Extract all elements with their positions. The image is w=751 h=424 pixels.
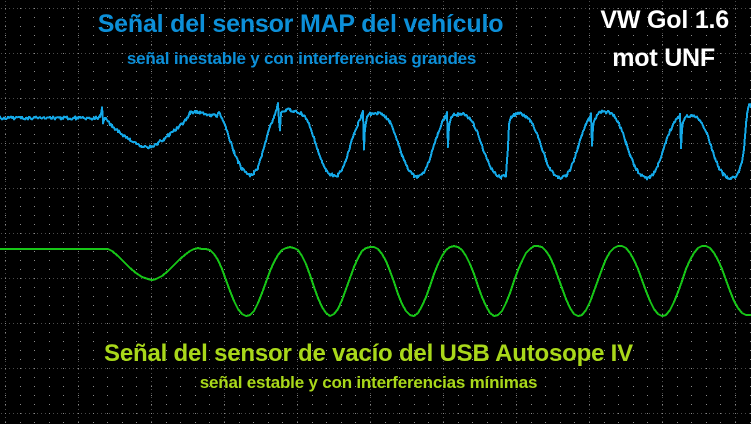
vehicle-model-label: VW Gol 1.6 (600, 6, 729, 35)
vacuum-signal-title: Señal del sensor de vacío del USB Autoso… (0, 340, 751, 368)
vehicle-engine-label: mot UNF (612, 44, 715, 73)
vacuum-signal-subtitle: señal estable y con interferencias mínim… (0, 373, 751, 393)
oscilloscope-screen: Señal del sensor MAP del vehículo señal … (0, 0, 751, 424)
